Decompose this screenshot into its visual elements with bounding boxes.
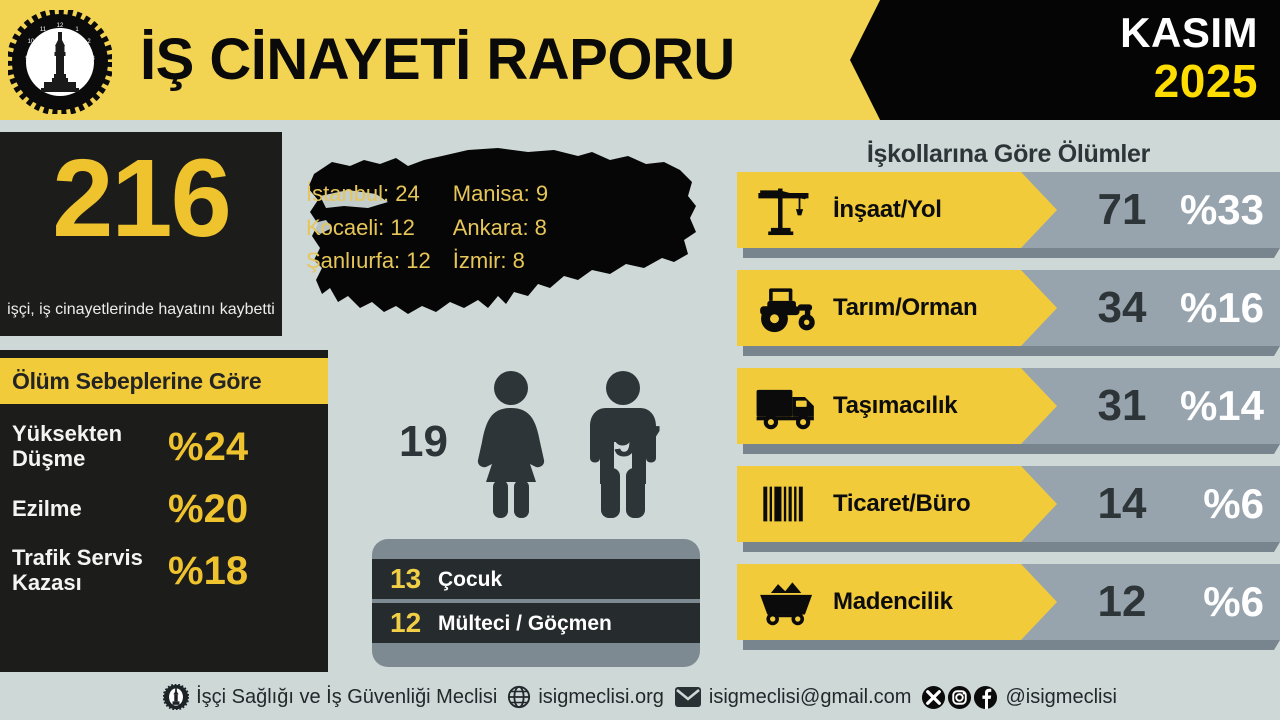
- envelope-icon: [674, 686, 702, 708]
- bar-shadow: [743, 444, 1280, 454]
- bar-shadow: [743, 346, 1280, 356]
- total-deaths-card: 216 işçi, iş cinayetlerinde hayatını kay…: [0, 132, 282, 336]
- page-title: İŞ CİNAYETİ RAPORU: [140, 31, 735, 89]
- sector-count: 14: [1067, 466, 1177, 542]
- gender-breakdown: 19 197: [368, 368, 698, 518]
- female-death-count: 19: [368, 420, 448, 464]
- sector-count: 71: [1067, 172, 1177, 248]
- sector-count: 34: [1067, 270, 1177, 346]
- sector-row: İnşaat/Yol 71 %33: [737, 172, 1280, 258]
- crane-icon: [749, 182, 825, 238]
- city-stat: İzmir: 8: [453, 247, 548, 275]
- total-deaths-caption: işçi, iş cinayetlerinde hayatını kaybett…: [0, 300, 282, 320]
- city-stats: İstanbul: 24 Kocaeli: 12 Şanlıurfa: 12 M…: [292, 180, 712, 275]
- footer-email[interactable]: isigmeclisi@gmail.com: [674, 686, 912, 709]
- cause-value: %24: [162, 427, 314, 467]
- report-month: KASIM: [1120, 12, 1258, 54]
- bar-shadow: [743, 640, 1280, 650]
- isig-logo-icon: [163, 684, 189, 710]
- x-twitter-icon[interactable]: [921, 685, 946, 710]
- sectors-chart: İnşaat/Yol 71 %33: [737, 172, 1280, 662]
- cause-row: Trafik Servis Kazası %18: [0, 540, 328, 602]
- sector-percent: %16: [1180, 270, 1264, 346]
- bar-fill: Taşımacılık: [737, 368, 1057, 444]
- cause-label: Ezilme: [12, 497, 162, 522]
- mine-cart-icon: [749, 574, 825, 630]
- truck-icon: [749, 378, 825, 434]
- globe-icon: [507, 685, 531, 709]
- instagram-icon[interactable]: [947, 685, 972, 710]
- bar-shadow: [743, 542, 1280, 552]
- infographic-root: 1212 345 678 91011: [0, 0, 1280, 720]
- sector-percent: %6: [1203, 564, 1264, 640]
- sector-count: 12: [1067, 564, 1177, 640]
- subgroup-label: Mülteci / Göçmen: [438, 613, 612, 634]
- sector-label: Tarım/Orman: [833, 296, 977, 320]
- footer-social-text: @isigmeclisi: [1005, 686, 1116, 709]
- report-year: 2025: [1154, 58, 1258, 104]
- header: 1212 345 678 91011: [0, 0, 1280, 120]
- sector-percent: %33: [1180, 172, 1264, 248]
- subgroup-label: Çocuk: [438, 569, 502, 590]
- sector-label: Taşımacılık: [833, 394, 957, 418]
- city-stat: Manisa: 9: [453, 180, 548, 208]
- city-stats-column: İstanbul: 24 Kocaeli: 12 Şanlıurfa: 12: [306, 180, 431, 275]
- sector-label: Madencilik: [833, 590, 953, 614]
- sector-row: Tarım/Orman 34 %16: [737, 270, 1280, 356]
- sector-percent: %6: [1203, 466, 1264, 542]
- cause-value: %18: [162, 551, 314, 591]
- subgroup-value: 13: [390, 565, 434, 593]
- facebook-icon[interactable]: [973, 685, 998, 710]
- bar-fill: İnşaat/Yol: [737, 172, 1057, 248]
- total-deaths-number: 216: [0, 144, 282, 254]
- cause-row: Yüksekten Düşme %24: [0, 416, 328, 478]
- city-stat: Şanlıurfa: 12: [306, 247, 431, 275]
- sector-label: Ticaret/Büro: [833, 492, 970, 516]
- male-figure-icon: [568, 368, 678, 518]
- barcode-icon: [749, 476, 825, 532]
- footer-org: İşçi Sağlığı ve İş Güvenliği Meclisi: [163, 684, 497, 710]
- bar-fill: Madencilik: [737, 564, 1057, 640]
- svg-text:11: 11: [40, 27, 47, 33]
- cause-label: Trafik Servis Kazası: [12, 546, 162, 595]
- cause-value: %20: [162, 489, 314, 529]
- svg-text:10: 10: [28, 39, 35, 45]
- footer-website-text: isigmeclisi.org: [538, 686, 664, 709]
- cause-row: Ezilme %20: [0, 478, 328, 540]
- causes-list: Yüksekten Düşme %24 Ezilme %20 Trafik Se…: [0, 416, 328, 602]
- female-figure-icon: [456, 368, 566, 518]
- city-stat: Kocaeli: 12: [306, 214, 431, 242]
- sector-label: İnşaat/Yol: [833, 198, 942, 222]
- sector-count: 31: [1067, 368, 1177, 444]
- sector-row: Madencilik 12 %6: [737, 564, 1280, 650]
- city-stats-column: Manisa: 9 Ankara: 8 İzmir: 8: [453, 180, 548, 275]
- subgroups-panel: 13 Çocuk 12 Mülteci / Göçmen: [372, 539, 700, 667]
- city-stat: Ankara: 8: [453, 214, 548, 242]
- turkey-map-block: İstanbul: 24 Kocaeli: 12 Şanlıurfa: 12 M…: [292, 136, 712, 348]
- sector-row: Ticaret/Büro 14 %6: [737, 466, 1280, 552]
- footer: İşçi Sağlığı ve İş Güvenliği Meclisi isi…: [0, 674, 1280, 720]
- sector-row: Taşımacılık 31 %14: [737, 368, 1280, 454]
- causes-panel: Ölüm Sebeplerine Göre Yüksekten Düşme %2…: [0, 350, 328, 672]
- footer-email-text: isigmeclisi@gmail.com: [709, 686, 912, 709]
- isig-clock-tower-gear-logo-icon: 1212 345 678 91011: [8, 10, 112, 114]
- city-stat: İstanbul: 24: [306, 180, 431, 208]
- bar-fill: Ticaret/Büro: [737, 466, 1057, 542]
- svg-text:12: 12: [57, 23, 64, 29]
- tractor-icon: [749, 280, 825, 336]
- bar-shadow: [743, 248, 1280, 258]
- subgroup-value: 12: [390, 609, 434, 637]
- footer-social[interactable]: @isigmeclisi: [921, 685, 1116, 710]
- sector-percent: %14: [1180, 368, 1264, 444]
- social-icons: [921, 685, 998, 710]
- footer-org-text: İşçi Sağlığı ve İş Güvenliği Meclisi: [196, 686, 497, 709]
- subgroup-row: 13 Çocuk: [372, 559, 700, 599]
- footer-website[interactable]: isigmeclisi.org: [507, 685, 664, 709]
- sectors-title: İşkollarına Göre Ölümler: [737, 140, 1280, 169]
- cause-label: Yüksekten Düşme: [12, 422, 162, 471]
- bar-fill: Tarım/Orman: [737, 270, 1057, 346]
- causes-panel-title: Ölüm Sebeplerine Göre: [0, 358, 328, 404]
- subgroup-row: 12 Mülteci / Göçmen: [372, 603, 700, 643]
